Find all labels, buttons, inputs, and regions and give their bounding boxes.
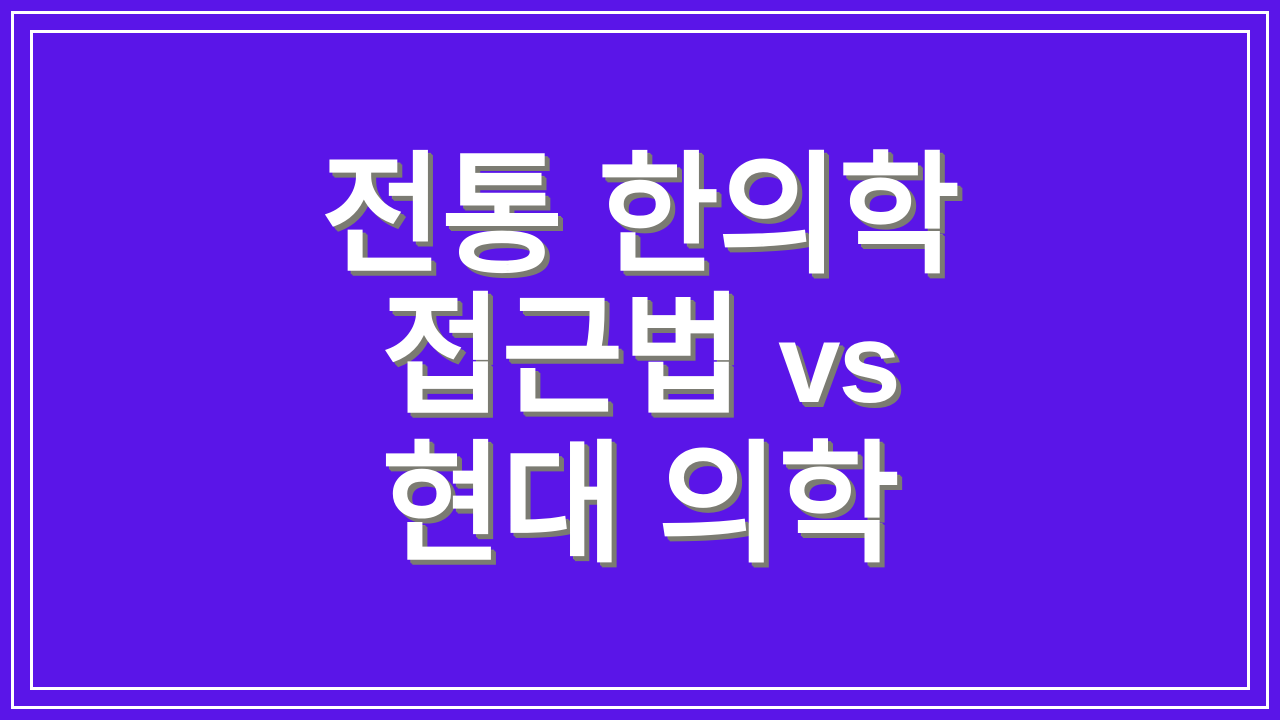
headline-line-2: 접근법 vs (0, 286, 1280, 434)
headline-line-1: 전통 한의학 (0, 145, 1280, 286)
headline-line-2-text: 접근법 (381, 283, 778, 430)
title-card: 전통 한의학 접근법 vs 현대 의학 (0, 0, 1280, 720)
headline-block: 전통 한의학 접근법 vs 현대 의학 (0, 0, 1280, 720)
headline-versus-label: vs (778, 301, 899, 426)
headline-line-3: 현대 의학 (0, 434, 1280, 575)
